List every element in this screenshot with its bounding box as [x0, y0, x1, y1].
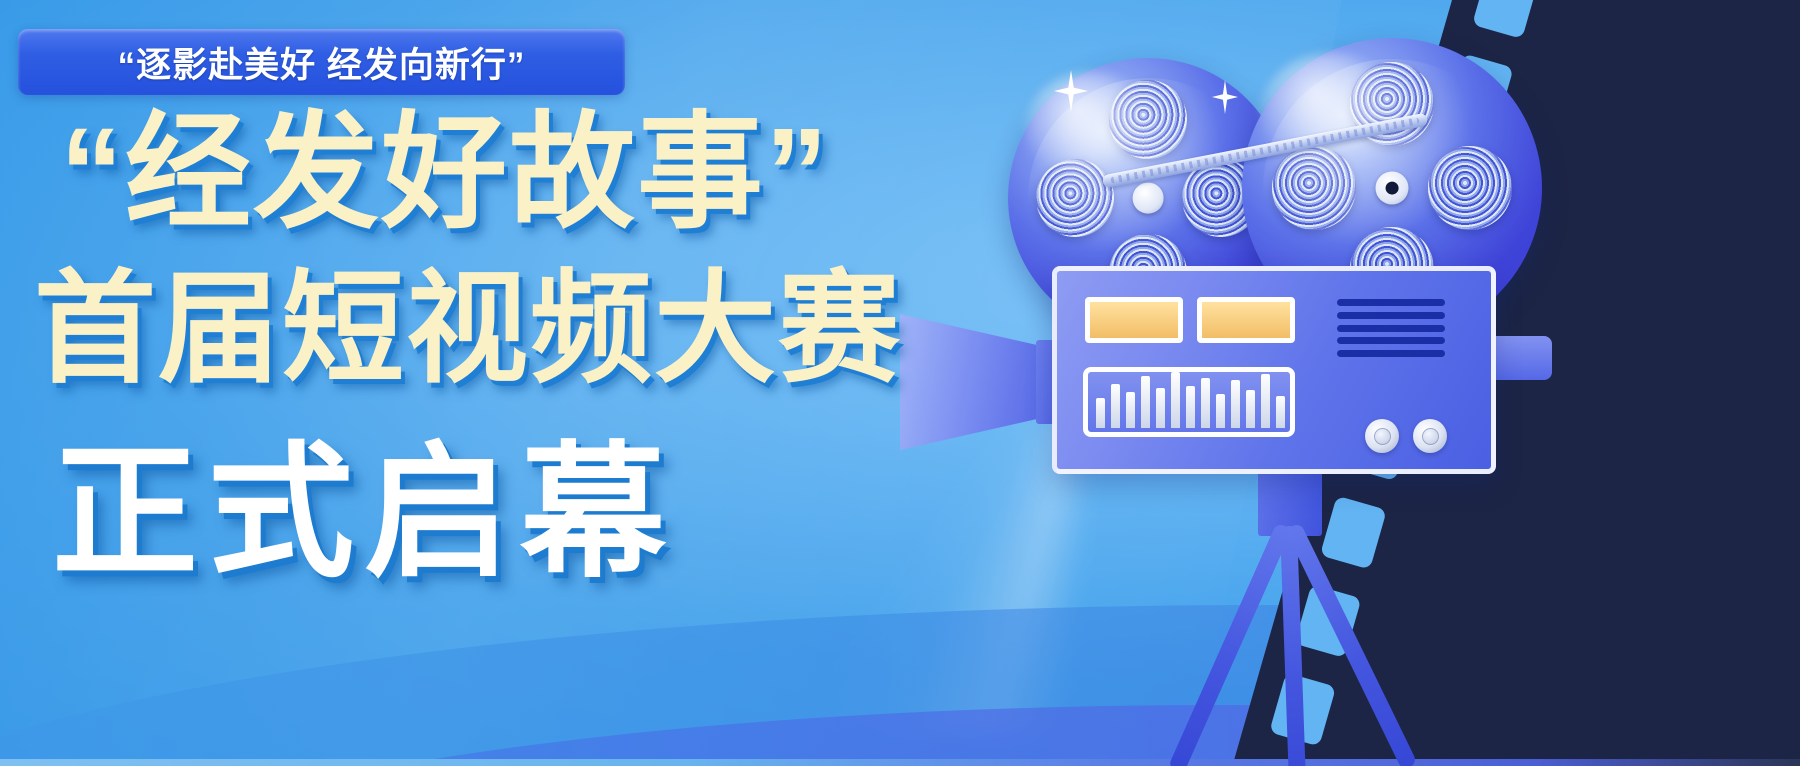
projector-window	[1197, 297, 1295, 343]
film-projector-illustration	[980, 18, 1680, 766]
projector-grille	[1083, 367, 1295, 437]
headline-line-2: 首届短视频大赛	[34, 268, 902, 390]
headline-line-1: “经发好故事”	[60, 110, 830, 236]
promo-banner: “逐影赴美好 经发向新行” “经发好故事” 首届短视频大赛 正式启幕	[0, 0, 1800, 766]
projector-vent-slats	[1337, 299, 1445, 357]
grille-bar	[1231, 380, 1240, 428]
projector-body	[1052, 266, 1496, 474]
tagline-badge: “逐影赴美好 经发向新行”	[18, 29, 625, 95]
vent-slat	[1337, 299, 1445, 306]
grille-bar	[1276, 396, 1285, 428]
headline-line-3: 正式启幕	[52, 440, 676, 586]
reel-hub	[1133, 183, 1164, 214]
projector-knob	[1365, 419, 1399, 453]
vent-slat	[1337, 350, 1445, 357]
grille-bar	[1096, 398, 1105, 428]
grille-bar	[1201, 378, 1210, 428]
grille-bar	[1246, 390, 1255, 428]
vent-slat	[1337, 337, 1445, 344]
grille-bar	[1261, 374, 1270, 428]
projector-knob	[1413, 419, 1447, 453]
tagline-text: “逐影赴美好 经发向新行”	[118, 37, 526, 88]
projector-knobs	[1365, 419, 1447, 453]
grille-bar	[1171, 372, 1180, 428]
projector-window	[1085, 297, 1183, 343]
vent-slat	[1337, 312, 1445, 319]
grille-bar	[1141, 376, 1150, 428]
vent-slat	[1337, 325, 1445, 332]
grille-bar	[1186, 386, 1195, 428]
reel-hub	[1376, 172, 1409, 205]
projector-rear-spool	[1494, 336, 1552, 380]
tripod-leg	[1285, 522, 1418, 766]
grille-bar	[1156, 388, 1165, 428]
grille-bar	[1216, 394, 1225, 428]
tripod-leg	[1168, 523, 1293, 766]
grille-bar	[1111, 384, 1120, 428]
grille-bar	[1126, 392, 1135, 428]
